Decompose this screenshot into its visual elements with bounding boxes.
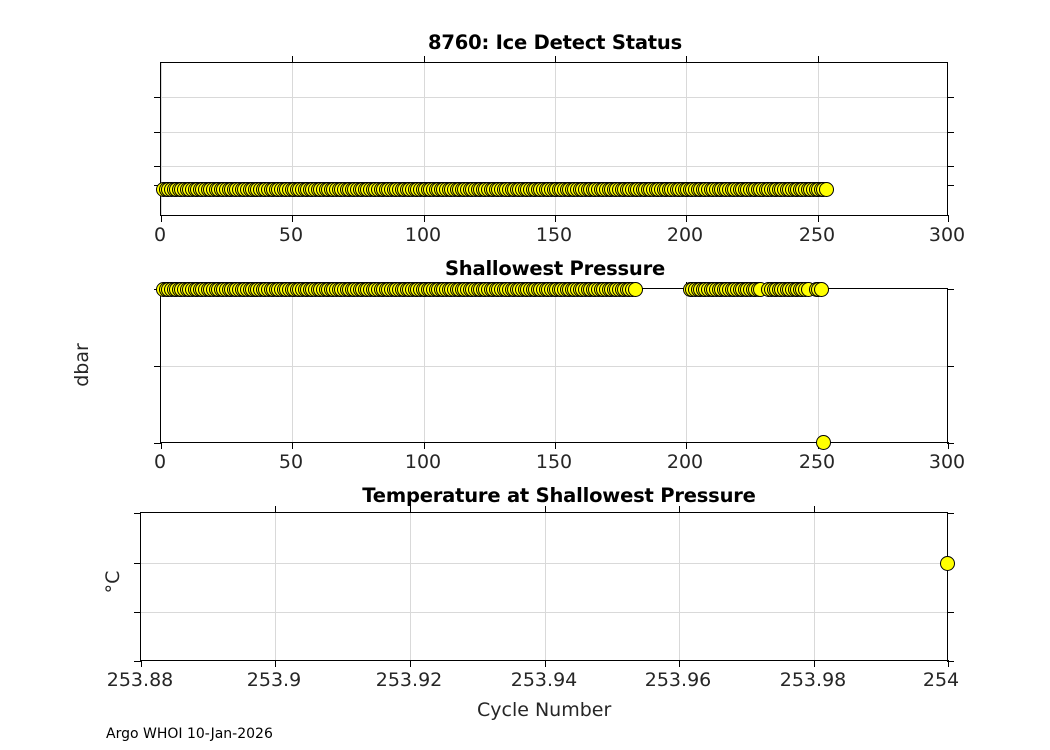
gridline xyxy=(545,513,546,660)
x-tick-label: 253.94 xyxy=(511,669,577,691)
x-tick-label: 150 xyxy=(536,224,572,246)
y-tick xyxy=(154,366,161,367)
x-tick-label: 300 xyxy=(929,224,965,246)
x-tick-label: 253.88 xyxy=(107,669,173,691)
figure-footer-credit: Argo WHOI 10-Jan-2026 xyxy=(106,726,273,742)
data-point xyxy=(940,556,955,571)
x-axis-label-cycle-number: Cycle Number xyxy=(477,699,611,721)
y-tick xyxy=(947,513,954,514)
x-tick xyxy=(292,215,293,222)
y-tick xyxy=(947,132,954,133)
y-tick xyxy=(947,289,954,290)
y-tick xyxy=(134,661,141,662)
x-tick xyxy=(545,660,546,667)
x-tick xyxy=(818,56,819,63)
data-point xyxy=(814,282,829,297)
x-tick xyxy=(686,56,687,63)
x-tick xyxy=(275,506,276,513)
x-tick xyxy=(686,215,687,222)
gridline xyxy=(161,366,947,367)
x-tick xyxy=(161,442,162,449)
x-tick-label: 254 xyxy=(923,669,959,691)
x-tick-label: 150 xyxy=(536,451,572,473)
x-tick xyxy=(424,442,425,449)
gridline xyxy=(141,612,947,613)
x-tick-label: 253.96 xyxy=(645,669,711,691)
gridline xyxy=(686,289,687,442)
chart-title-temperature: Temperature at Shallowest Pressure xyxy=(362,484,755,507)
y-tick xyxy=(154,97,161,98)
x-tick xyxy=(679,506,680,513)
x-tick-label: 253.92 xyxy=(376,669,442,691)
x-tick-label: 100 xyxy=(405,451,441,473)
x-tick-label: 50 xyxy=(279,451,303,473)
x-tick-label: 253.98 xyxy=(780,669,846,691)
y-tick xyxy=(947,366,954,367)
x-tick xyxy=(424,56,425,63)
x-tick xyxy=(555,56,556,63)
x-tick xyxy=(141,660,142,667)
x-tick xyxy=(679,660,680,667)
x-tick xyxy=(555,215,556,222)
y-tick xyxy=(947,97,954,98)
x-tick-label: 253.9 xyxy=(247,669,301,691)
gridline xyxy=(292,289,293,442)
x-tick xyxy=(292,442,293,449)
gridline xyxy=(161,166,947,167)
x-tick xyxy=(410,506,411,513)
x-tick xyxy=(555,442,556,449)
x-tick-label: 200 xyxy=(667,451,703,473)
y-tick xyxy=(154,443,161,444)
y-tick xyxy=(154,166,161,167)
x-tick-label: 50 xyxy=(279,224,303,246)
argo-ice-detect-figure: 8760: Ice Detect Status xyxy=(0,0,1050,750)
x-tick xyxy=(818,215,819,222)
x-tick xyxy=(424,215,425,222)
x-tick xyxy=(814,506,815,513)
axes-ice-detect-status xyxy=(160,62,948,216)
x-tick xyxy=(275,660,276,667)
gridline xyxy=(141,563,947,564)
y-tick xyxy=(154,132,161,133)
x-tick xyxy=(292,56,293,63)
gridline xyxy=(161,97,947,98)
x-tick xyxy=(410,660,411,667)
x-tick xyxy=(545,506,546,513)
gridline xyxy=(818,289,819,442)
x-tick-label: 0 xyxy=(154,451,166,473)
y-tick xyxy=(947,166,954,167)
x-tick xyxy=(161,215,162,222)
y-tick xyxy=(134,612,141,613)
axes-shallowest-pressure xyxy=(160,288,948,443)
x-tick-label: 200 xyxy=(667,224,703,246)
gridline xyxy=(679,513,680,660)
gridline xyxy=(275,513,276,660)
y-tick xyxy=(134,563,141,564)
x-tick-label: 100 xyxy=(405,224,441,246)
x-tick xyxy=(686,442,687,449)
x-tick-label: 250 xyxy=(799,451,835,473)
x-tick xyxy=(948,215,949,222)
x-tick-label: 250 xyxy=(799,224,835,246)
gridline xyxy=(814,513,815,660)
data-point-outlier xyxy=(816,435,831,450)
x-tick-label: 300 xyxy=(929,451,965,473)
x-tick-label: 0 xyxy=(154,224,166,246)
gridline xyxy=(424,289,425,442)
data-point xyxy=(628,282,643,297)
data-point xyxy=(819,182,834,197)
gridline xyxy=(161,132,947,133)
x-tick xyxy=(948,442,949,449)
axes-temperature xyxy=(140,512,948,661)
chart-title-shallowest-pressure: Shallowest Pressure xyxy=(445,257,665,280)
x-tick xyxy=(814,660,815,667)
gridline xyxy=(555,289,556,442)
y-tick xyxy=(947,185,954,186)
chart-title-ice-detect-status: 8760: Ice Detect Status xyxy=(428,31,682,54)
gridline xyxy=(410,513,411,660)
x-tick xyxy=(948,660,949,667)
y-axis-label-dbar: dbar xyxy=(71,343,93,387)
gridline xyxy=(161,63,947,64)
y-axis-label-degc: °C xyxy=(102,571,124,594)
y-tick xyxy=(947,612,954,613)
y-tick xyxy=(134,513,141,514)
